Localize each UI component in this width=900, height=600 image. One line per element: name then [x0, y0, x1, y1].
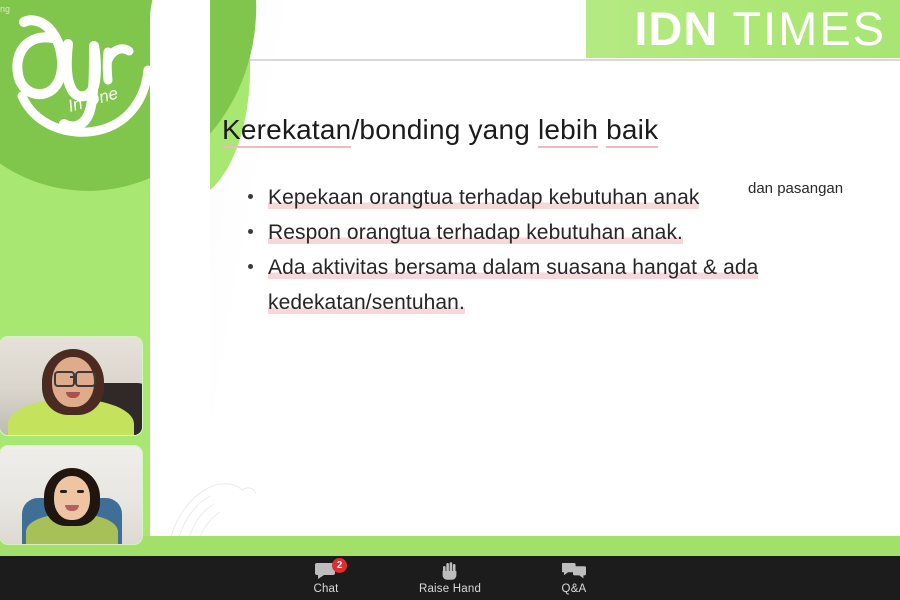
idn-logo-bold: IDN	[634, 2, 718, 55]
slide-title-part-2: /bonding yang	[351, 114, 538, 145]
toolbar-label-chat: Chat	[313, 583, 338, 595]
slide-bullet-list: Kepekaan orangtua terhadap kebutuhan ana…	[246, 180, 866, 320]
idn-times-logo: IDN TIMES	[634, 2, 886, 56]
slide-title-part-3: lebih	[538, 114, 598, 148]
participant-video-tile-2[interactable]	[0, 446, 142, 544]
zoom-webinar-window: In One ng IDN TIMES Kerekatan/bonding ya…	[0, 0, 900, 600]
chat-unread-badge: 2	[332, 558, 347, 573]
toolbar-button-chat[interactable]: 2 Chat	[288, 561, 364, 595]
bullet-dot-icon	[248, 194, 253, 199]
toolbar-button-raise-hand[interactable]: Raise Hand	[412, 561, 488, 595]
our-in-one-logo: In One	[8, 4, 168, 139]
logo-cropped-text: ng	[0, 4, 10, 14]
slide-bullet-item: Respon orangtua terhadap kebutuhan anak.	[246, 215, 866, 250]
raised-hand-icon	[441, 561, 459, 580]
slide-header-rule	[207, 59, 900, 61]
bullet-text: Kepekaan orangtua terhadap kebutuhan ana…	[268, 186, 699, 209]
participant-1-video-feed	[0, 337, 142, 435]
toolbar-button-qa[interactable]: Q&A	[536, 561, 612, 595]
bullet-dot-icon	[248, 229, 253, 234]
toolbar-label-qa: Q&A	[562, 583, 587, 595]
slide-annotation: dan pasangan	[748, 180, 843, 197]
toolbar-label-raise-hand: Raise Hand	[419, 583, 481, 595]
bullet-text: Respon orangtua terhadap kebutuhan anak.	[268, 221, 683, 244]
slide-title-part-5: baik	[606, 114, 658, 148]
participant-2-video-feed	[0, 446, 142, 544]
participant-video-tile-1[interactable]	[0, 337, 142, 435]
question-answer-icon	[562, 561, 586, 580]
meeting-toolbar: 2 Chat Raise Hand	[0, 556, 900, 600]
idn-logo-light: TIMES	[732, 2, 886, 55]
bullet-dot-icon	[248, 264, 253, 269]
slide-bullet-item: Ada aktivitas bersama dalam suasana hang…	[246, 250, 866, 320]
slide-title-part-4	[598, 114, 606, 145]
slide-title-part-1: Kerekatan	[222, 114, 351, 148]
shared-screen-region[interactable]: In One ng IDN TIMES Kerekatan/bonding ya…	[0, 0, 900, 556]
bullet-text: Ada aktivitas bersama dalam suasana hang…	[268, 256, 758, 314]
idn-times-header-bar: IDN TIMES	[586, 0, 900, 58]
slide-title: Kerekatan/bonding yang lebih baik	[222, 114, 658, 146]
